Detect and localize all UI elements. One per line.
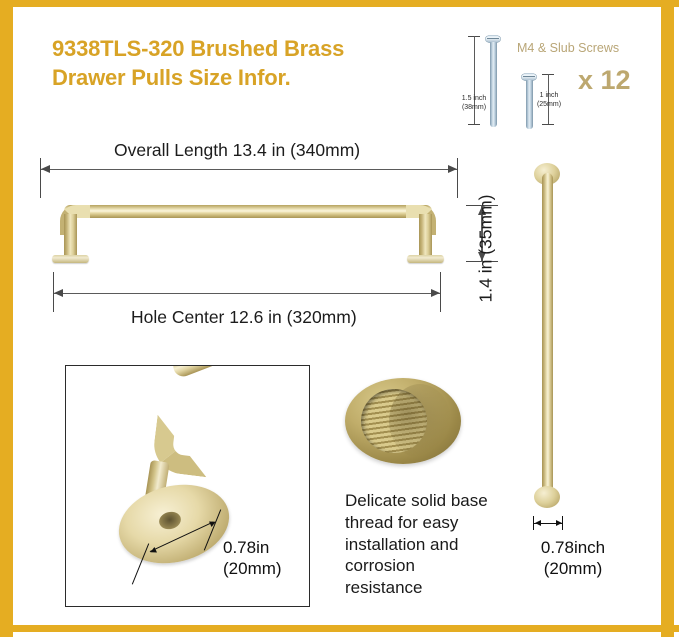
frame-bar-top bbox=[0, 0, 679, 7]
base-diameter-vertical-label: 0.78inch (20mm) bbox=[513, 537, 633, 580]
hole-center-label: Hole Center 12.6 in (320mm) bbox=[131, 307, 357, 328]
screws-label: M4 & Slub Screws bbox=[517, 41, 619, 55]
infographic-page: 9338TLS-320 Brushed Brass Drawer Pulls S… bbox=[0, 0, 679, 637]
frame-bar-bottom bbox=[0, 625, 679, 632]
title-line-1: 9338TLS-320 Brushed Brass bbox=[52, 36, 344, 61]
long-screw-length-label: 1.5 inch (38mm) bbox=[452, 95, 496, 113]
frame-bar-right bbox=[661, 0, 674, 637]
mounting-base-left bbox=[52, 255, 89, 263]
base-diameter-detail-label: 0.78in (20mm) bbox=[223, 537, 333, 580]
page-title: 9338TLS-320 Brushed Brass Drawer Pulls S… bbox=[52, 34, 452, 93]
base-thread-photo bbox=[345, 378, 461, 464]
short-screw-length-label: 1 inch (25mm) bbox=[527, 92, 571, 110]
drawer-pull-vertical-illustration bbox=[531, 163, 565, 508]
long-screw-illustration bbox=[485, 35, 501, 127]
title-line-2: Drawer Pulls Size Infor. bbox=[52, 63, 452, 92]
thread-feature-text: Delicate solid base thread for easy inst… bbox=[345, 490, 495, 599]
screws-quantity-label: x 12 bbox=[578, 65, 631, 96]
drawer-pull-horizontal-illustration bbox=[36, 205, 458, 263]
projection-label: 1.4 in (35mm) bbox=[475, 195, 496, 303]
overall-length-label: Overall Length 13.4 in (340mm) bbox=[114, 140, 360, 161]
frame-bar-left bbox=[0, 0, 13, 637]
mounting-base-right bbox=[407, 255, 444, 263]
